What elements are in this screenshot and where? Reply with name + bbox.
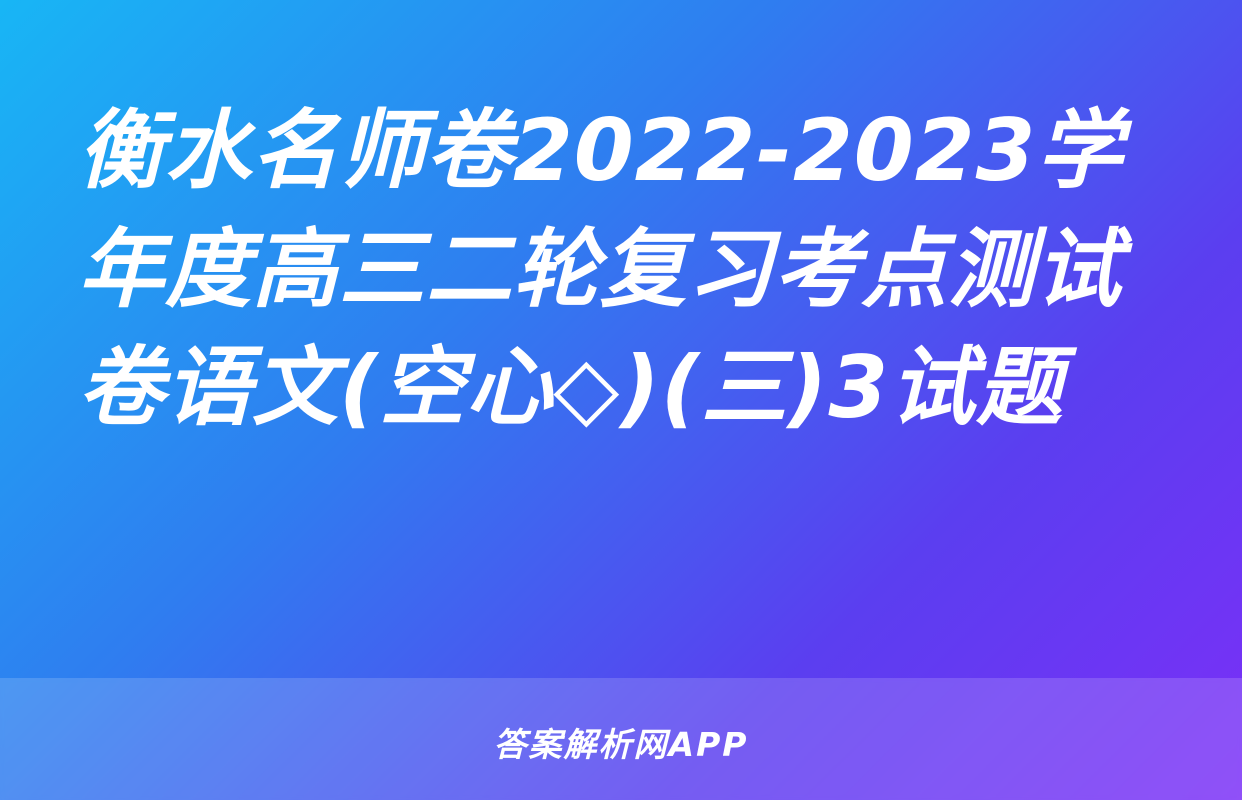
title-block: 衡水名师卷2022-2023学年度高三二轮复习考点测试卷语文(空心◇)(三)3试…	[0, 92, 1242, 448]
page-title: 衡水名师卷2022-2023学年度高三二轮复习考点测试卷语文(空心◇)(三)3试…	[78, 92, 1164, 448]
app-watermark-label: 答案解析网APP	[0, 718, 1242, 766]
poster-background: 衡水名师卷2022-2023学年度高三二轮复习考点测试卷语文(空心◇)(三)3试…	[0, 0, 1242, 800]
